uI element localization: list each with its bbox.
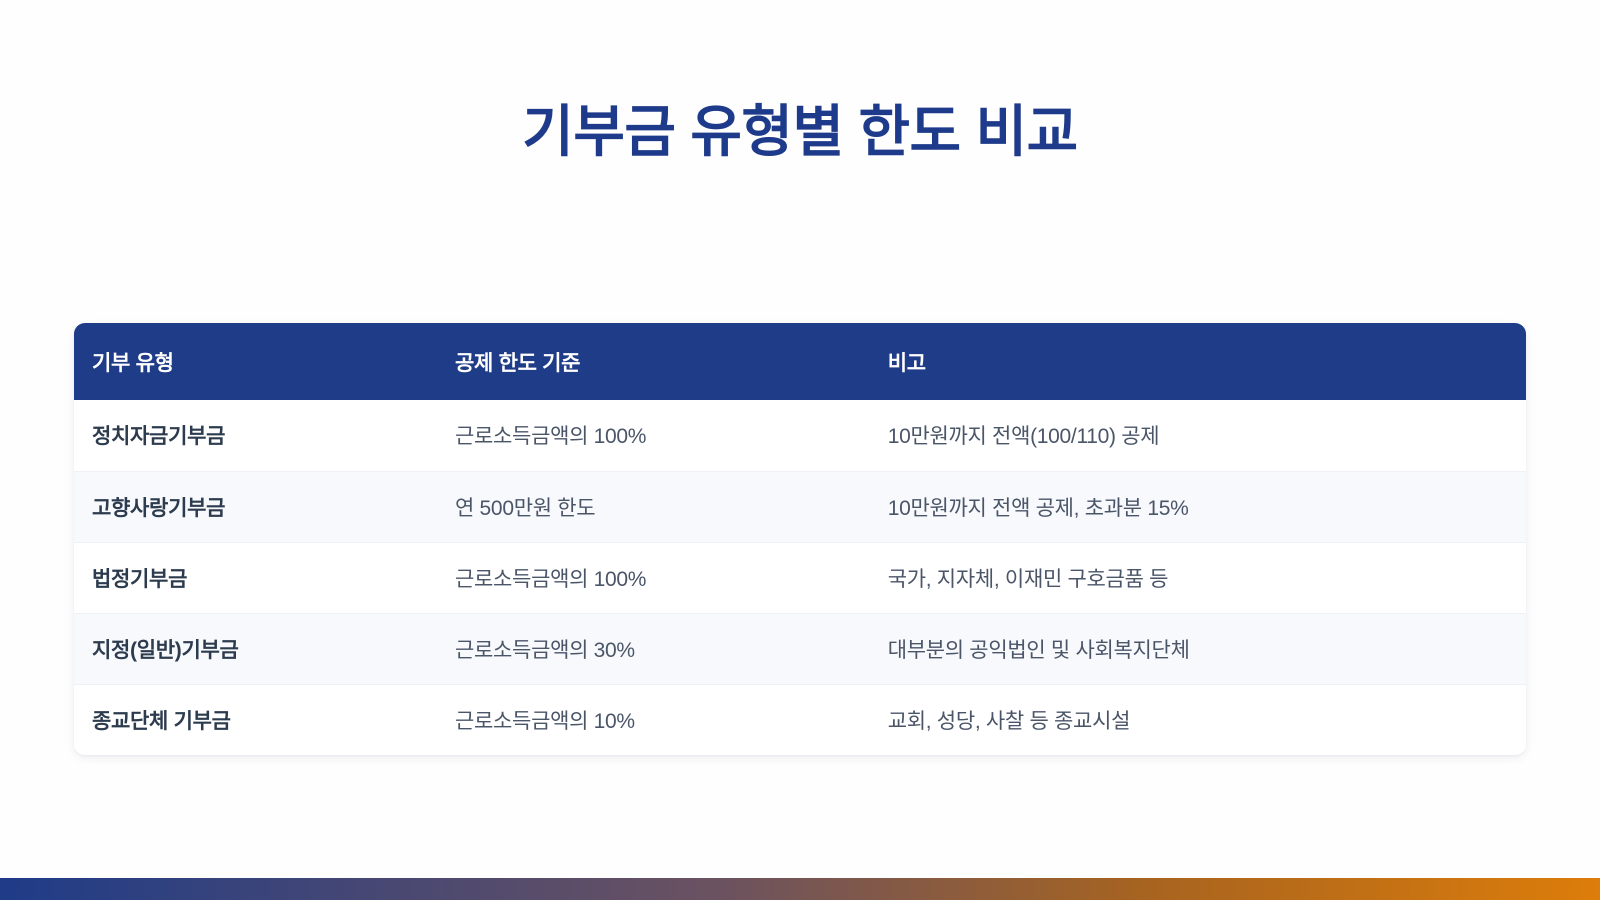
- cell-donation-type: 정치자금기부금: [74, 400, 437, 471]
- table-row: 종교단체 기부금 근로소득금액의 10% 교회, 성당, 사찰 등 종교시설: [74, 684, 1526, 755]
- table-row: 고향사랑기부금 연 500만원 한도 10만원까지 전액 공제, 초과분 15%: [74, 471, 1526, 542]
- cell-remarks: 10만원까지 전액(100/110) 공제: [870, 400, 1526, 471]
- cell-remarks: 교회, 성당, 사찰 등 종교시설: [870, 684, 1526, 755]
- table-row: 법정기부금 근로소득금액의 100% 국가, 지자체, 이재민 구호금품 등: [74, 542, 1526, 613]
- cell-deduction-limit: 근로소득금액의 100%: [437, 400, 870, 471]
- table-body: 정치자금기부금 근로소득금액의 100% 10만원까지 전액(100/110) …: [74, 400, 1526, 755]
- table-header: 기부 유형 공제 한도 기준 비고: [74, 323, 1526, 400]
- cell-deduction-limit: 근로소득금액의 10%: [437, 684, 870, 755]
- cell-remarks: 국가, 지자체, 이재민 구호금품 등: [870, 542, 1526, 613]
- cell-donation-type: 종교단체 기부금: [74, 684, 437, 755]
- column-header-note: 비고: [870, 323, 1526, 400]
- cell-remarks: 대부분의 공익법인 및 사회복지단체: [870, 613, 1526, 684]
- cell-deduction-limit: 근로소득금액의 100%: [437, 542, 870, 613]
- comparison-table-container: 기부 유형 공제 한도 기준 비고 정치자금기부금 근로소득금액의 100% 1…: [74, 323, 1526, 755]
- cell-donation-type: 지정(일반)기부금: [74, 613, 437, 684]
- cell-donation-type: 고향사랑기부금: [74, 471, 437, 542]
- column-header-limit: 공제 한도 기준: [437, 323, 870, 400]
- column-header-type: 기부 유형: [74, 323, 437, 400]
- cell-donation-type: 법정기부금: [74, 542, 437, 613]
- table-row: 지정(일반)기부금 근로소득금액의 30% 대부분의 공익법인 및 사회복지단체: [74, 613, 1526, 684]
- cell-remarks: 10만원까지 전액 공제, 초과분 15%: [870, 471, 1526, 542]
- page-title: 기부금 유형별 한도 비교: [0, 100, 1600, 164]
- slide-root: 기부금 유형별 한도 비교 기부 유형 공제 한도 기준 비고 정치자금기부금 …: [0, 0, 1600, 900]
- table-header-row: 기부 유형 공제 한도 기준 비고: [74, 323, 1526, 400]
- cell-deduction-limit: 근로소득금액의 30%: [437, 613, 870, 684]
- cell-deduction-limit: 연 500만원 한도: [437, 471, 870, 542]
- footer-accent-bar: [0, 878, 1600, 900]
- table-row: 정치자금기부금 근로소득금액의 100% 10만원까지 전액(100/110) …: [74, 400, 1526, 471]
- comparison-table: 기부 유형 공제 한도 기준 비고 정치자금기부금 근로소득금액의 100% 1…: [74, 323, 1526, 755]
